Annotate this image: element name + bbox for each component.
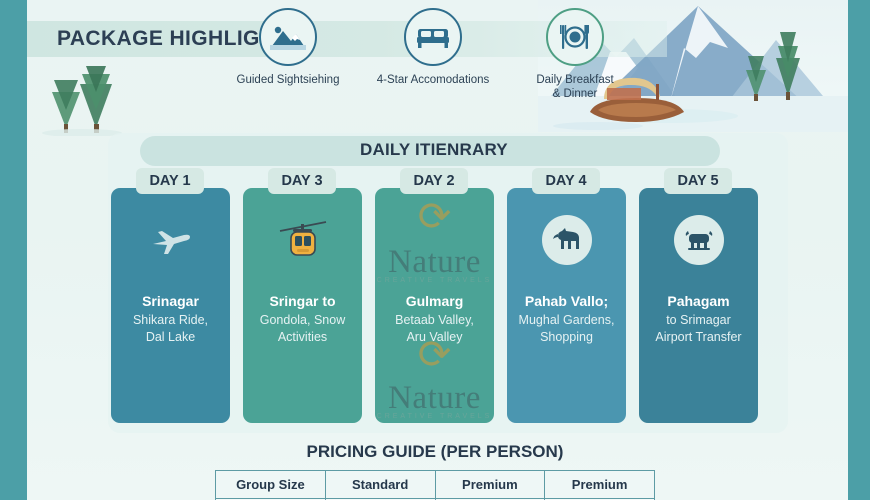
pricing-col-premium-1: Premium	[435, 471, 545, 499]
watermark-word-top: Nature	[363, 244, 506, 281]
pricing-col-premium-2: Premium	[545, 471, 655, 499]
day-badge-4: DAY 4	[532, 168, 600, 194]
watermark-brand-top: Nature CREATIVE TRAVELS	[363, 244, 506, 284]
day-badge-1: DAY 1	[136, 168, 204, 194]
day-card-1-text: Srinagar Shikara Ride, Dal Lake	[115, 292, 226, 346]
day-card-1[interactable]: Srinagar Shikara Ride, Dal Lake	[111, 188, 230, 423]
pricing-col-group-size: Group Size	[216, 471, 326, 499]
swirl-icon: ⟳	[375, 200, 494, 234]
day-card-3-text: Sringar to Gondola, Snow Activities	[247, 292, 358, 346]
horse-icon	[542, 215, 592, 265]
watermark-sub-bottom: CREATIVE TRAVELS	[363, 413, 506, 420]
itinerary-title: DAILY ITIENRARY	[360, 140, 508, 160]
highlight-item-sightseeing: Guided Sightsiehing	[213, 8, 363, 87]
plate-cutlery-icon	[546, 8, 604, 66]
day-card-2-title: Gulmarg	[379, 292, 490, 311]
goat-icon-wrapper	[639, 212, 758, 268]
watermark-brand-bottom: Nature CREATIVE TRAVELS	[363, 380, 506, 420]
day-card-2[interactable]: ⟳ Nature CREATIVE TRAVELS ⟳ Nature CREAT…	[375, 188, 494, 423]
highlight-label-accommodations: 4-Star Accomodations	[358, 73, 508, 87]
goat-icon	[674, 215, 724, 265]
day-card-5-text: Pahagam to Srimagar Airport Transfer	[643, 292, 754, 346]
highlight-item-meals: Daily Breakfast & Dinner	[500, 8, 650, 101]
day-card-4-text: Pahab Vallo; Mughal Gardens, Shopping	[511, 292, 622, 346]
pricing-table: Group Size Standard Premium Premium	[215, 470, 655, 500]
day-card-4[interactable]: Pahab Vallo; Mughal Gardens, Shopping	[507, 188, 626, 423]
left-border-bar	[0, 0, 27, 500]
day-badge-2: DAY 2	[400, 168, 468, 194]
watermark-word-bottom: Nature	[363, 380, 506, 417]
day-card-3-title: Sringar to	[247, 292, 358, 311]
day-card-4-sub: Mughal Gardens, Shopping	[511, 312, 622, 346]
mountain-icon	[259, 8, 317, 66]
day-card-5-title: Pahagam	[643, 292, 754, 311]
watermark-sub-top: CREATIVE TRAVELS	[363, 277, 506, 284]
horse-icon-wrapper	[507, 212, 626, 268]
highlight-label-meals: Daily Breakfast & Dinner	[500, 73, 650, 101]
day-card-1-title: Srinagar	[115, 292, 226, 311]
pricing-guide-title: PRICING GUIDE (PER PERSON)	[0, 442, 870, 462]
day-card-5-sub: to Srimagar Airport Transfer	[643, 312, 754, 346]
travel-package-poster: PACKAGE HIGHLIGHTS Guided Sightsiehing 4…	[0, 0, 870, 500]
pricing-header-row: Group Size Standard Premium Premium	[216, 471, 655, 499]
cable-car-icon	[243, 212, 362, 268]
watermark-swirl-top: ⟳	[375, 200, 494, 234]
day-card-2-sub: Betaab Valley, Aru Valley	[379, 312, 490, 346]
right-border-bar	[848, 0, 870, 500]
airplane-icon	[111, 212, 230, 268]
highlight-label-sightseeing: Guided Sightsiehing	[213, 73, 363, 87]
day-card-5[interactable]: Pahagam to Srimagar Airport Transfer	[639, 188, 758, 423]
day-card-1-sub: Shikara Ride, Dal Lake	[115, 312, 226, 346]
day-card-2-text: Gulmarg Betaab Valley, Aru Valley	[379, 292, 490, 346]
day-card-3-sub: Gondola, Snow Activities	[247, 312, 358, 346]
bed-icon	[404, 8, 462, 66]
day-badge-3: DAY 3	[268, 168, 336, 194]
left-fir-trees-illustration	[34, 66, 134, 132]
pricing-col-standard: Standard	[325, 471, 435, 499]
day-badge-5: DAY 5	[664, 168, 732, 194]
day-card-4-title: Pahab Vallo;	[511, 292, 622, 311]
highlight-item-accommodations: 4-Star Accomodations	[358, 8, 508, 87]
day-card-3[interactable]: Sringar to Gondola, Snow Activities	[243, 188, 362, 423]
